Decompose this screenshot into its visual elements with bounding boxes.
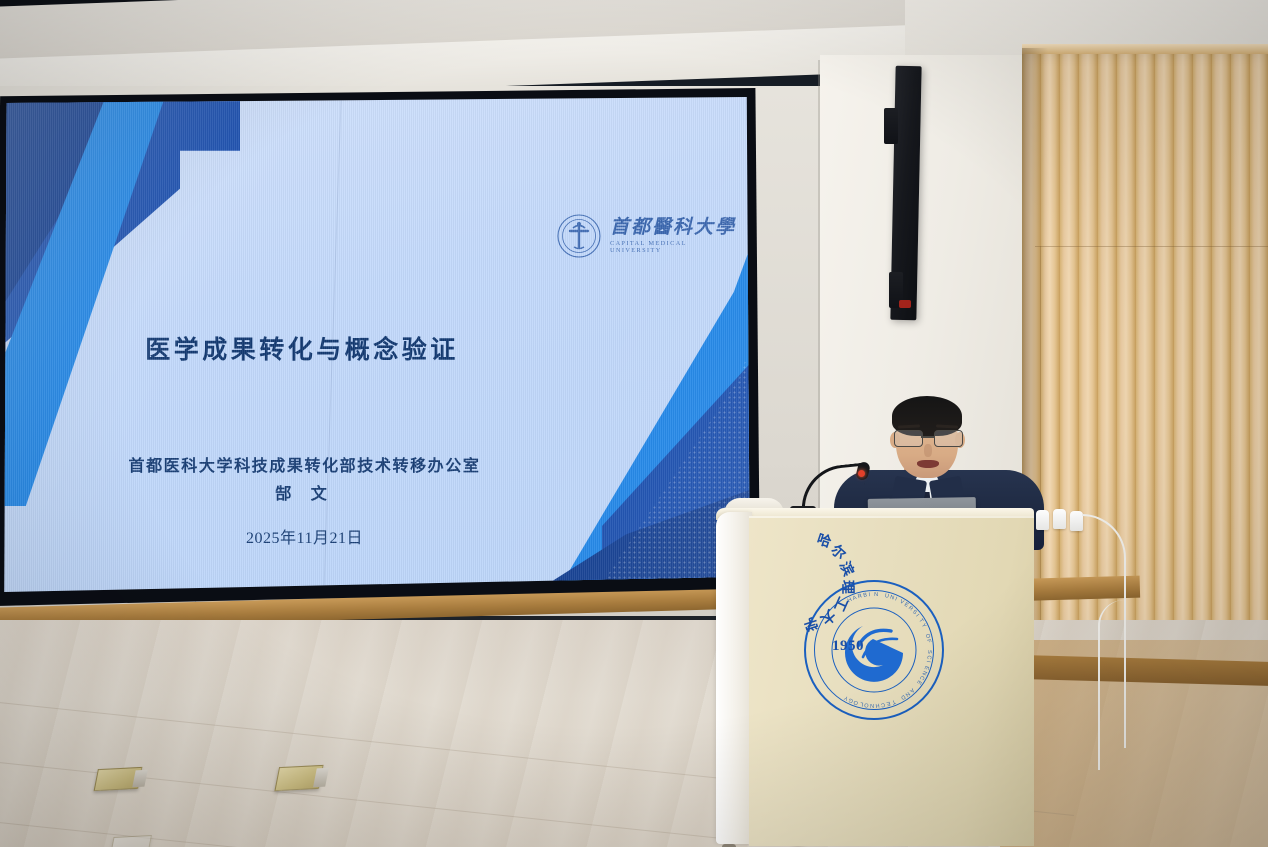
wall-speaker-brand-logo bbox=[899, 300, 911, 308]
crest-english-name: HARBIN UNIVERSITY OF SCIENCE AND TECHNOL… bbox=[804, 580, 944, 720]
speaker-mouth bbox=[917, 460, 939, 468]
slide-logo-en: CAPITAL MEDICAL UNIVERSITY bbox=[610, 241, 736, 253]
speaker-nose bbox=[924, 444, 932, 457]
wood-slat-wall-cap bbox=[1022, 44, 1268, 54]
podium-university-crest: 1950 HARBIN UNIVERSITY OF SCIENCE AND TE… bbox=[804, 580, 944, 720]
slide-date: 2025年11月21日 bbox=[2, 524, 607, 548]
slide-subtitle-presenter: 郜 文 bbox=[2, 480, 607, 504]
water-bottle bbox=[1036, 510, 1049, 530]
floor-outlet-box bbox=[96, 768, 138, 788]
floor-outlet-box bbox=[112, 836, 148, 847]
water-bottle bbox=[1053, 509, 1066, 529]
caduceus-circle-emblem-icon bbox=[556, 213, 602, 259]
slide-logo-cn: 首都醫科大學 bbox=[610, 218, 736, 237]
podium-side-panel bbox=[716, 512, 752, 844]
podium-floor-cable bbox=[728, 843, 788, 847]
slide-subtitle-organization: 首都医科大学科技成果转化部技术转移办公室 bbox=[2, 452, 607, 476]
floor-outlet-box bbox=[277, 766, 319, 788]
projection-screen[interactable]: 首都醫科大學 CAPITAL MEDICAL UNIVERSITY 医学成果转化… bbox=[2, 96, 752, 594]
slide-university-logo: 首都醫科大學 CAPITAL MEDICAL UNIVERSITY bbox=[556, 208, 736, 264]
microphone-indicator-light bbox=[858, 470, 865, 477]
slide-title: 医学成果转化与概念验证 bbox=[2, 330, 602, 366]
eyeglasses-icon bbox=[893, 430, 963, 445]
podium: 1950 HARBIN UNIVERSITY OF SCIENCE AND TE… bbox=[716, 508, 1034, 847]
wall-speaker-bracket-top bbox=[884, 108, 898, 144]
slat-wall-door-seam bbox=[1035, 246, 1268, 247]
white-cable-lower bbox=[1098, 600, 1124, 770]
room-photo-scene: 首都醫科大學 CAPITAL MEDICAL UNIVERSITY 医学成果转化… bbox=[0, 0, 1268, 847]
